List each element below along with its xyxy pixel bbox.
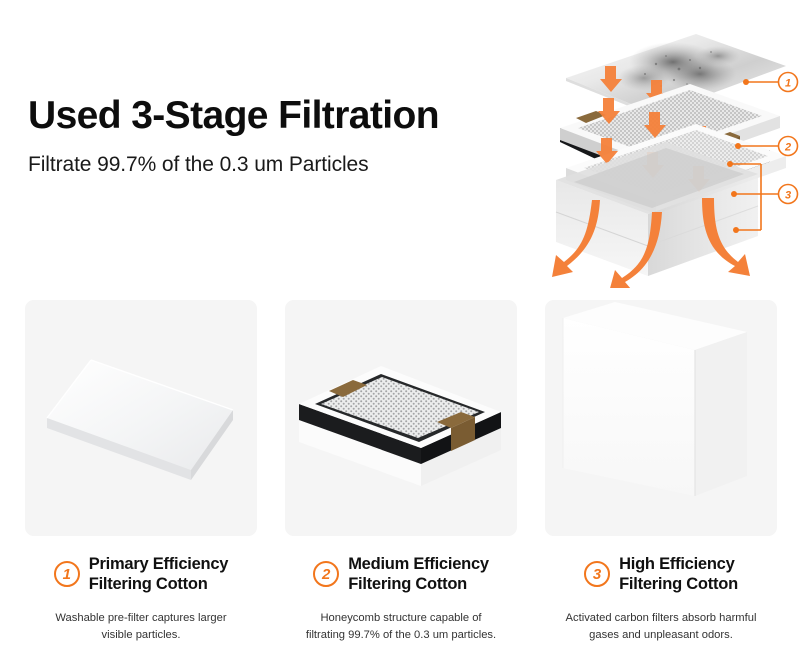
card-caption: 3 High Efficiency Filtering Cotton xyxy=(545,554,777,594)
svg-text:1: 1 xyxy=(785,78,791,90)
card-caption: 1 Primary Efficiency Filtering Cotton xyxy=(25,554,257,594)
card-caption: 2 Medium Efficiency Filtering Cotton xyxy=(285,554,517,594)
card-title: Medium Efficiency Filtering Cotton xyxy=(348,554,489,594)
card-title: High Efficiency Filtering Cotton xyxy=(619,554,738,594)
stage-badge: 2 xyxy=(313,561,339,587)
exploded-filter-diagram: 1 2 3 xyxy=(548,22,800,288)
filter-stage-card-3: 3 High Efficiency Filtering Cotton Activ… xyxy=(545,300,777,644)
high-efficiency-carbon-box-image xyxy=(545,300,777,536)
card-description: Activated carbon filters absorb harmful … xyxy=(545,610,777,644)
filter-stage-cards: 1 Primary Efficiency Filtering Cotton Wa… xyxy=(25,300,775,644)
header-block: Used 3-Stage Filtration Filtrate 99.7% o… xyxy=(28,96,548,177)
card-description: Washable pre-filter captures larger visi… xyxy=(25,610,257,644)
stage-badge: 3 xyxy=(584,561,610,587)
primary-filter-pad-image xyxy=(25,300,257,536)
filter-stage-card-2: 2 Medium Efficiency Filtering Cotton Hon… xyxy=(285,300,517,644)
filter-stage-card-1: 1 Primary Efficiency Filtering Cotton Wa… xyxy=(25,300,257,644)
stage-badge: 1 xyxy=(54,561,80,587)
page-subtitle: Filtrate 99.7% of the 0.3 um Particles xyxy=(28,153,548,177)
svg-text:3: 3 xyxy=(785,190,791,202)
svg-text:2: 2 xyxy=(784,142,791,154)
medium-honeycomb-filter-image xyxy=(285,300,517,536)
card-title: Primary Efficiency Filtering Cotton xyxy=(89,554,229,594)
card-description: Honeycomb structure capable of filtratin… xyxy=(285,610,517,644)
page-title: Used 3-Stage Filtration xyxy=(28,96,548,137)
